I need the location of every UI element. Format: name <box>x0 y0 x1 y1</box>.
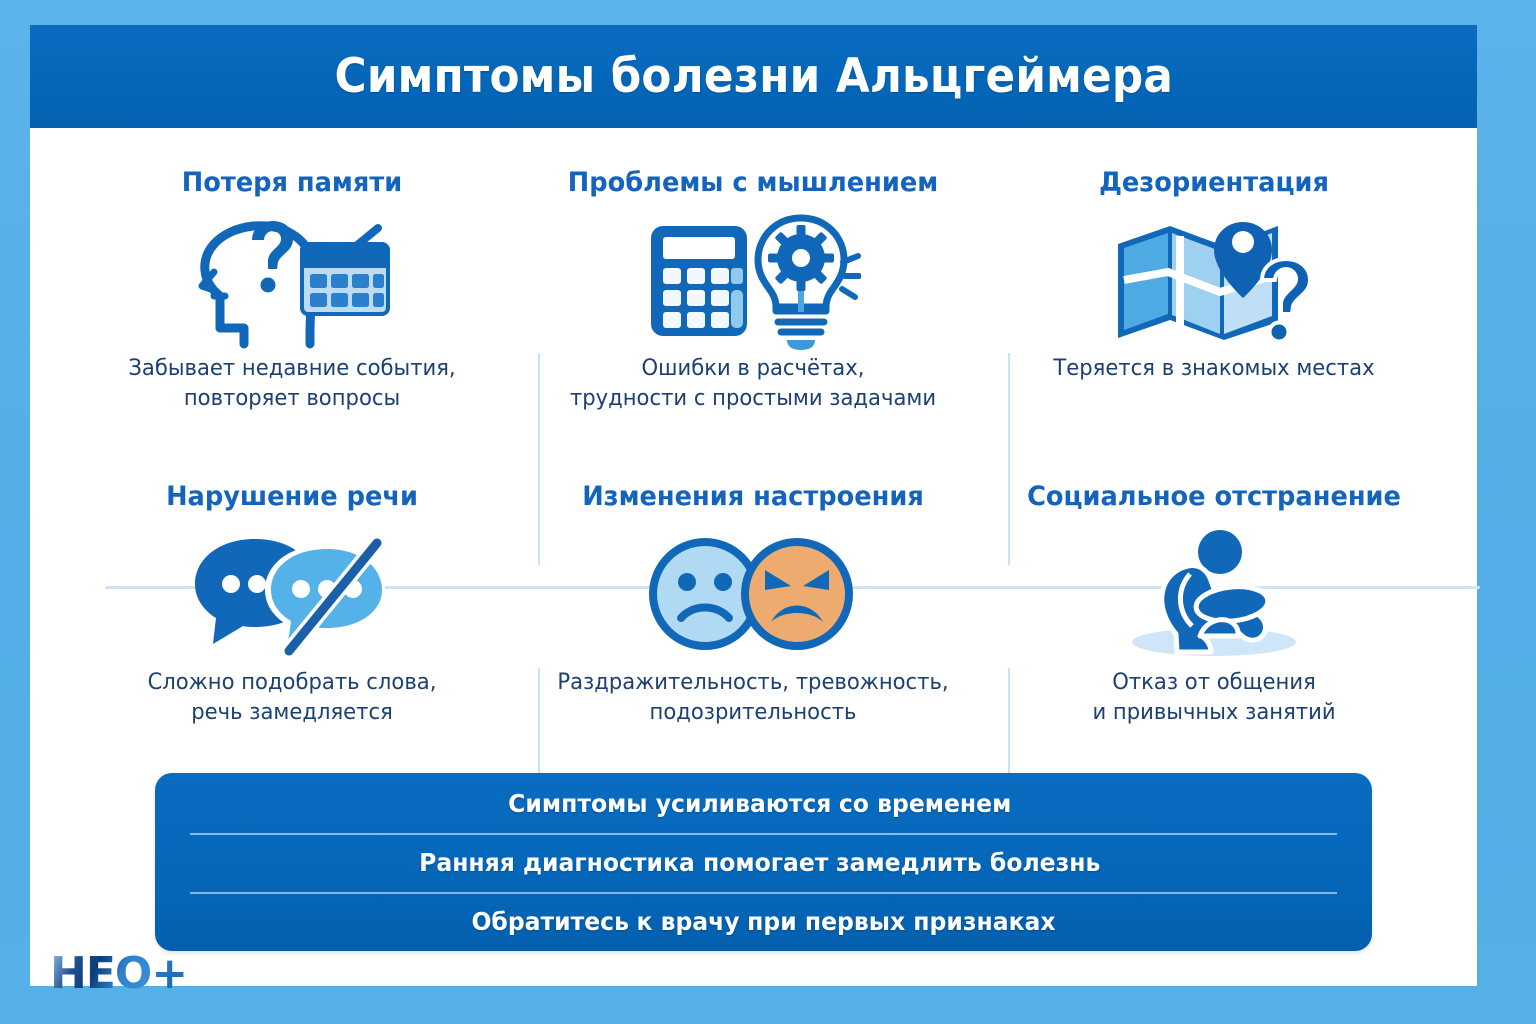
symptom-heading: Потеря памяти <box>77 166 506 200</box>
symptom-description: Ошибки в расчётах, трудности с простыми … <box>536 354 970 414</box>
key-note-lead: Обратитесь <box>471 907 629 936</box>
calculator-lightbulb-gear-icon <box>527 206 979 354</box>
key-note-strong: со временем <box>839 789 1011 818</box>
symptom-description: Раздражительность, тревожность, подозрит… <box>536 668 970 728</box>
desc-line-2: речь замедляется <box>191 700 393 725</box>
symptom-description: Отказ от общения и привычных занятий <box>997 668 1431 728</box>
sad-angry-faces-icon <box>527 520 979 668</box>
symptom-heading: Социальное отстранение <box>999 480 1428 514</box>
desc-line-2: трудности с простыми задачами <box>570 386 936 411</box>
desc-line-2: повторяет вопросы <box>184 386 400 411</box>
key-note-strong: к врачу <box>636 907 739 936</box>
symptom-heading: Нарушение речи <box>77 480 506 514</box>
desc-line-1: Ошибки в расчётах, <box>642 356 865 381</box>
symptom-card-disorientation: Дезориентация <box>988 166 1440 466</box>
key-note-strong: замедлить болезнь <box>836 848 1100 877</box>
desc-line-2: подозрительность <box>650 700 857 725</box>
logo-text: НЕО <box>50 948 151 999</box>
person-sitting-alone-icon <box>988 520 1440 668</box>
page-title: Симптомы болезни Альцгеймера <box>334 49 1172 104</box>
key-note-row: Ранняя диагностика помогает замедлить бо… <box>192 833 1336 892</box>
symptom-heading: Изменения настроения <box>538 480 967 514</box>
symptom-card-speech-impairment: Нарушение речи <box>66 480 518 780</box>
speech-bubbles-slash-icon <box>66 520 518 668</box>
title-bar: Симптомы болезни Альцгеймера <box>30 25 1477 128</box>
key-note-row: Обратитесь к врачу при первых признаках <box>192 892 1336 951</box>
key-note-row: Симптомы усиливаются со временем <box>192 774 1336 833</box>
brand-logo: НЕО+ <box>50 948 187 999</box>
key-notes-panel: Симптомы усиливаются со временем Ранняя … <box>155 773 1372 951</box>
symptom-description: Забывает недавние события, повторяет воп… <box>75 354 509 414</box>
desc-line-1: Забывает недавние события, <box>128 356 455 381</box>
desc-line-1: Теряется в знакомых местах <box>1053 356 1374 381</box>
key-note-lead: Симптомы усиливаются <box>508 789 831 818</box>
poster-background: Симптомы болезни Альцгеймера Потеря памя… <box>0 0 1536 1024</box>
symptom-description: Теряется в знакомых местах <box>997 354 1431 384</box>
symptom-description: Сложно подобрать слова, речь замедляется <box>75 668 509 728</box>
map-pin-question-icon <box>988 206 1440 354</box>
symptom-grid: Потеря памяти <box>30 128 1477 758</box>
desc-line-1: Сложно подобрать слова, <box>148 670 437 695</box>
symptom-card-mood-changes: Изменения настроения Раздражительност <box>527 480 979 780</box>
desc-line-2: и привычных занятий <box>1092 700 1335 725</box>
footer-panel-zone: Симптомы усиливаются со временем Ранняя … <box>30 758 1477 968</box>
symptom-card-memory-loss: Потеря памяти <box>66 166 518 466</box>
key-note-lead: Ранняя диагностика помогает <box>419 848 828 877</box>
key-note-tail: при первых признаках <box>747 907 1055 936</box>
symptom-card-thinking-problems: Проблемы с мышлением <box>527 166 979 466</box>
head-question-calendar-icon <box>66 206 518 354</box>
logo-plus-icon: + <box>151 948 187 999</box>
desc-line-1: Раздражительность, тревожность, <box>557 670 948 695</box>
desc-line-1: Отказ от общения <box>1112 670 1316 695</box>
infographic-card: Симптомы болезни Альцгеймера Потеря памя… <box>30 25 1477 986</box>
symptom-heading: Дезориентация <box>999 166 1428 200</box>
symptom-heading: Проблемы с мышлением <box>538 166 967 200</box>
symptom-card-social-withdrawal: Социальное отстранение Отказ от общения … <box>988 480 1440 780</box>
